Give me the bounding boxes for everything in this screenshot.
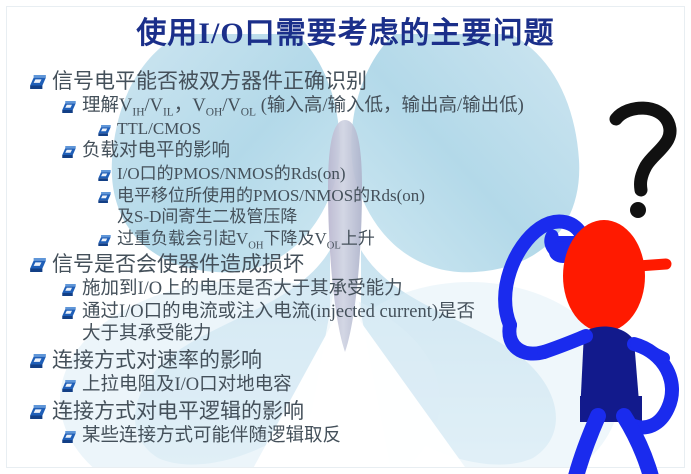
thinking-person-illustration — [488, 96, 691, 474]
bullet-diamond-icon — [98, 190, 110, 200]
outline-item-label: 过重负载会引起VOH下降及VOL上升 — [117, 228, 375, 249]
page-title-text: 使用I/O口需要考虑的主要问题 — [136, 17, 554, 50]
bullet-diamond-icon — [98, 123, 110, 133]
outline-item-label: 负载对电平的影响 — [82, 140, 230, 162]
outline-item-label: 某些连接方式可能伴随逻辑取反 — [82, 425, 341, 447]
bullet-diamond-icon — [98, 233, 110, 243]
bullet-diamond-icon — [62, 283, 75, 294]
bullet-diamond-icon — [98, 168, 110, 178]
page-title: 使用I/O口需要考虑的主要问题 — [0, 8, 691, 52]
outline-item-connection-speed-effect: 连接方式对速率的影响 — [24, 348, 544, 373]
outline-item-label: 信号电平能否被双方器件正确识别 — [52, 69, 367, 94]
bullet-diamond-icon — [30, 75, 45, 88]
outline-item-voltage-applied-to-io: 施加到I/O上的电压是否大于其承受能力 — [24, 278, 544, 300]
outline-item-understand-vih-vil: 理解VIH/VIL，VOH/VOL (输入高/输入低，输出高/输出低) — [24, 95, 544, 117]
outline-item-label: 电平移位所使用的PMOS/NMOS的Rds(on) 及S-D间寄生二极管压降 — [117, 185, 425, 227]
outline-item-signal-damage-device: 信号是否会使器件造成损坏 — [24, 252, 544, 277]
outline-item-level-shift-pmos-nmos-rds: 电平移位所使用的PMOS/NMOS的Rds(on) 及S-D间寄生二极管压降 — [24, 185, 544, 227]
outline-item-label: 信号是否会使器件造成损坏 — [52, 252, 304, 277]
bullet-diamond-icon — [62, 430, 75, 441]
outline-item-label: 上拉电阻及I/O口对地电容 — [82, 374, 292, 396]
outline-item-label: TTL/CMOS — [117, 118, 201, 139]
bullet-diamond-icon — [62, 379, 75, 390]
bullet-diamond-icon — [62, 100, 75, 111]
bullet-diamond-icon — [62, 145, 75, 156]
bullet-diamond-icon — [30, 258, 45, 271]
outline-item-label: 通过I/O口的电流或注入电流(injected current)是否 大于其承受… — [82, 301, 475, 345]
bullet-diamond-icon — [30, 405, 45, 418]
person-head — [563, 220, 645, 332]
outline-item-ttl-cmos: TTL/CMOS — [24, 118, 544, 139]
outline-item-label: 施加到I/O上的电压是否大于其承受能力 — [82, 278, 403, 300]
outline-item-label: 理解VIH/VIL，VOH/VOL (输入高/输入低，输出高/输出低) — [82, 95, 524, 117]
outline-item-current-through-io: 通过I/O口的电流或注入电流(injected current)是否 大于其承受… — [24, 301, 544, 345]
slide-canvas: 使用I/O口需要考虑的主要问题 信号电平能否被双方器件正确识别理解VIH/VIL… — [0, 0, 691, 474]
outline-list: 信号电平能否被双方器件正确识别理解VIH/VIL，VOH/VOL (输入高/输入… — [24, 66, 544, 447]
outline-item-pullup-resistor-capacitance: 上拉电阻及I/O口对地电容 — [24, 374, 544, 396]
outline-item-label: 连接方式对速率的影响 — [52, 348, 262, 373]
outline-item-overload-voh-vol: 过重负载会引起VOH下降及VOL上升 — [24, 228, 544, 249]
outline-item-signal-level-recognition: 信号电平能否被双方器件正确识别 — [24, 69, 544, 94]
outline-item-logic-inversion: 某些连接方式可能伴随逻辑取反 — [24, 425, 544, 447]
bullet-diamond-icon — [30, 354, 45, 367]
outline-item-label: I/O口的PMOS/NMOS的Rds(on) — [117, 163, 346, 184]
outline-item-connection-logic-effect: 连接方式对电平逻辑的影响 — [24, 399, 544, 424]
outline-item-load-effect-on-level: 负载对电平的影响 — [24, 140, 544, 162]
outline-item-io-pmos-nmos-rds: I/O口的PMOS/NMOS的Rds(on) — [24, 163, 544, 184]
question-mark-icon — [616, 108, 670, 218]
outline-item-label: 连接方式对电平逻辑的影响 — [52, 399, 304, 424]
bullet-diamond-icon — [62, 306, 75, 317]
